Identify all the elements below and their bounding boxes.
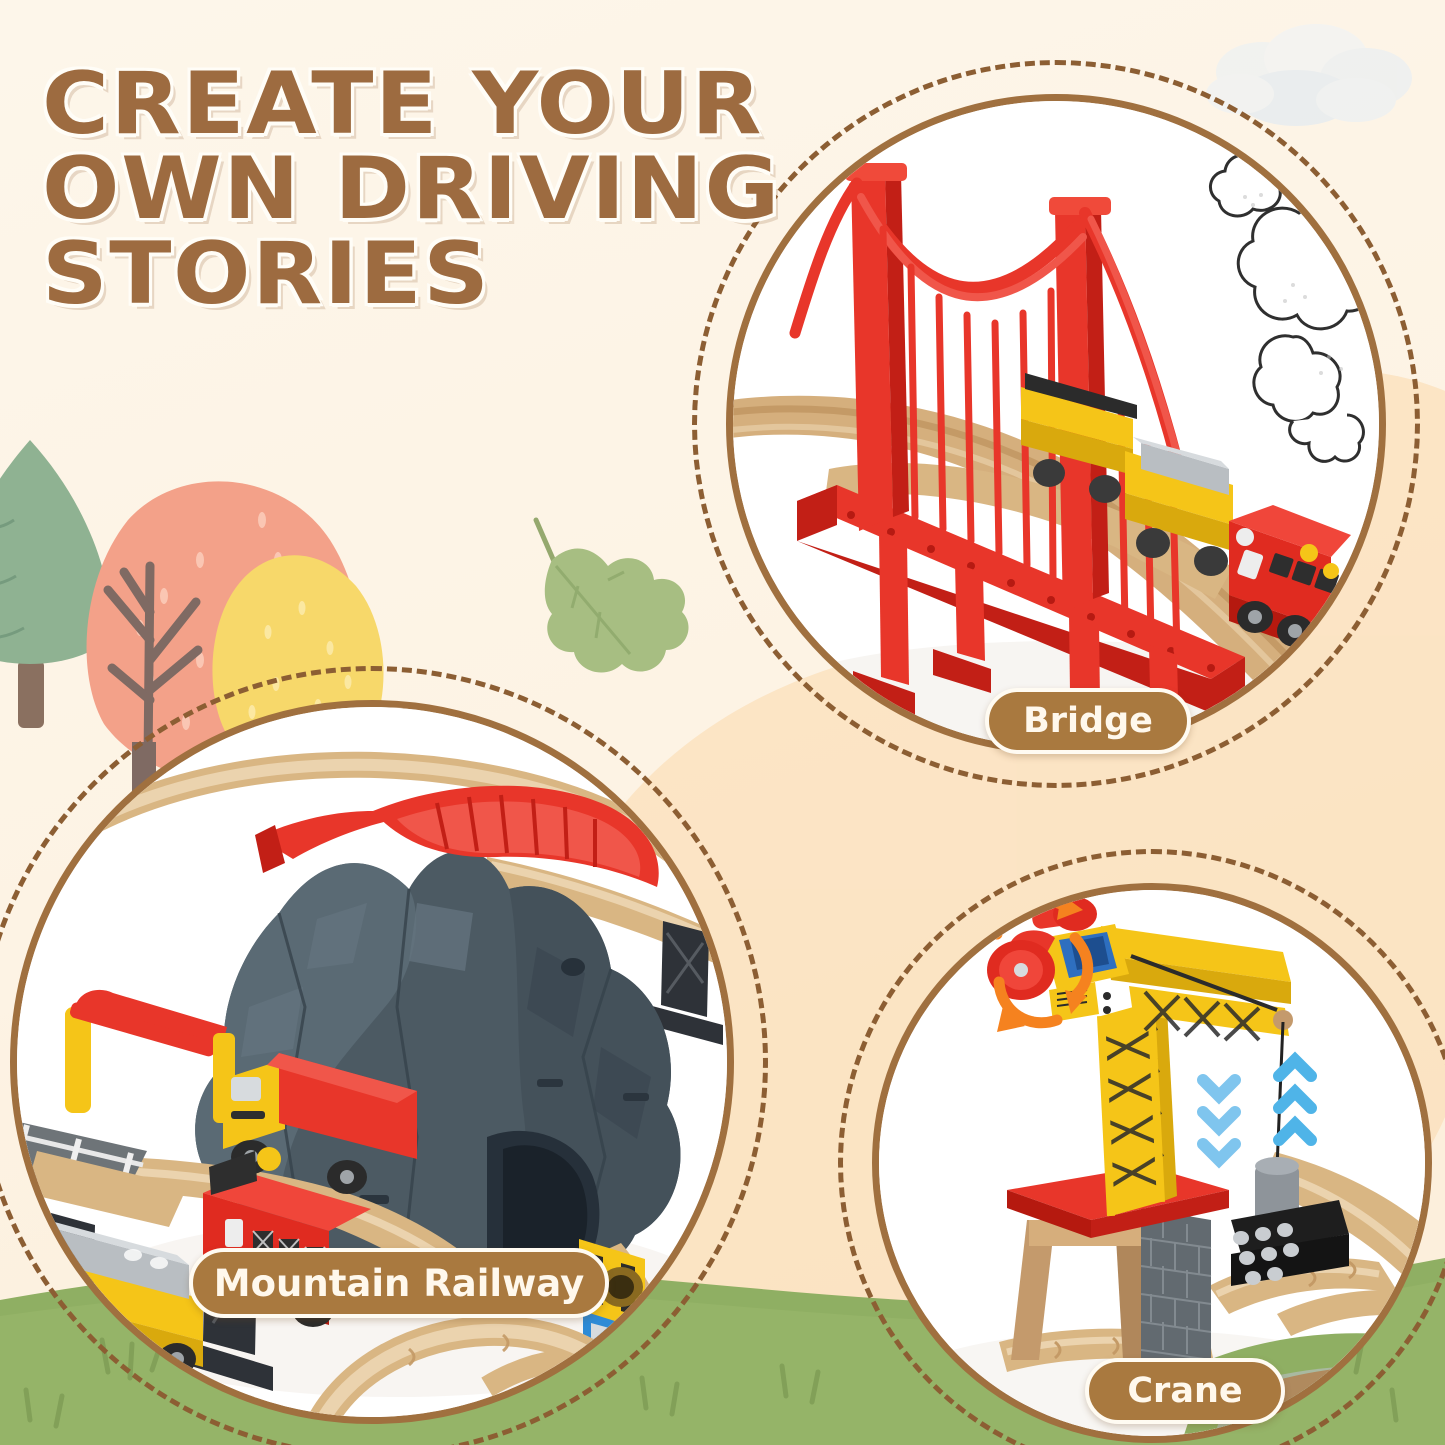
page-title: CREATE YOUR OWN DRIVING STORIES (42, 62, 848, 317)
badge-crane[interactable]: Crane (1085, 1358, 1285, 1424)
poster-canvas: Bridge (0, 0, 1445, 1445)
crane-tower (1101, 1002, 1177, 1216)
badge-mountain-railway[interactable]: Mountain Railway (189, 1248, 609, 1318)
badge-bridge[interactable]: Bridge (985, 688, 1191, 754)
